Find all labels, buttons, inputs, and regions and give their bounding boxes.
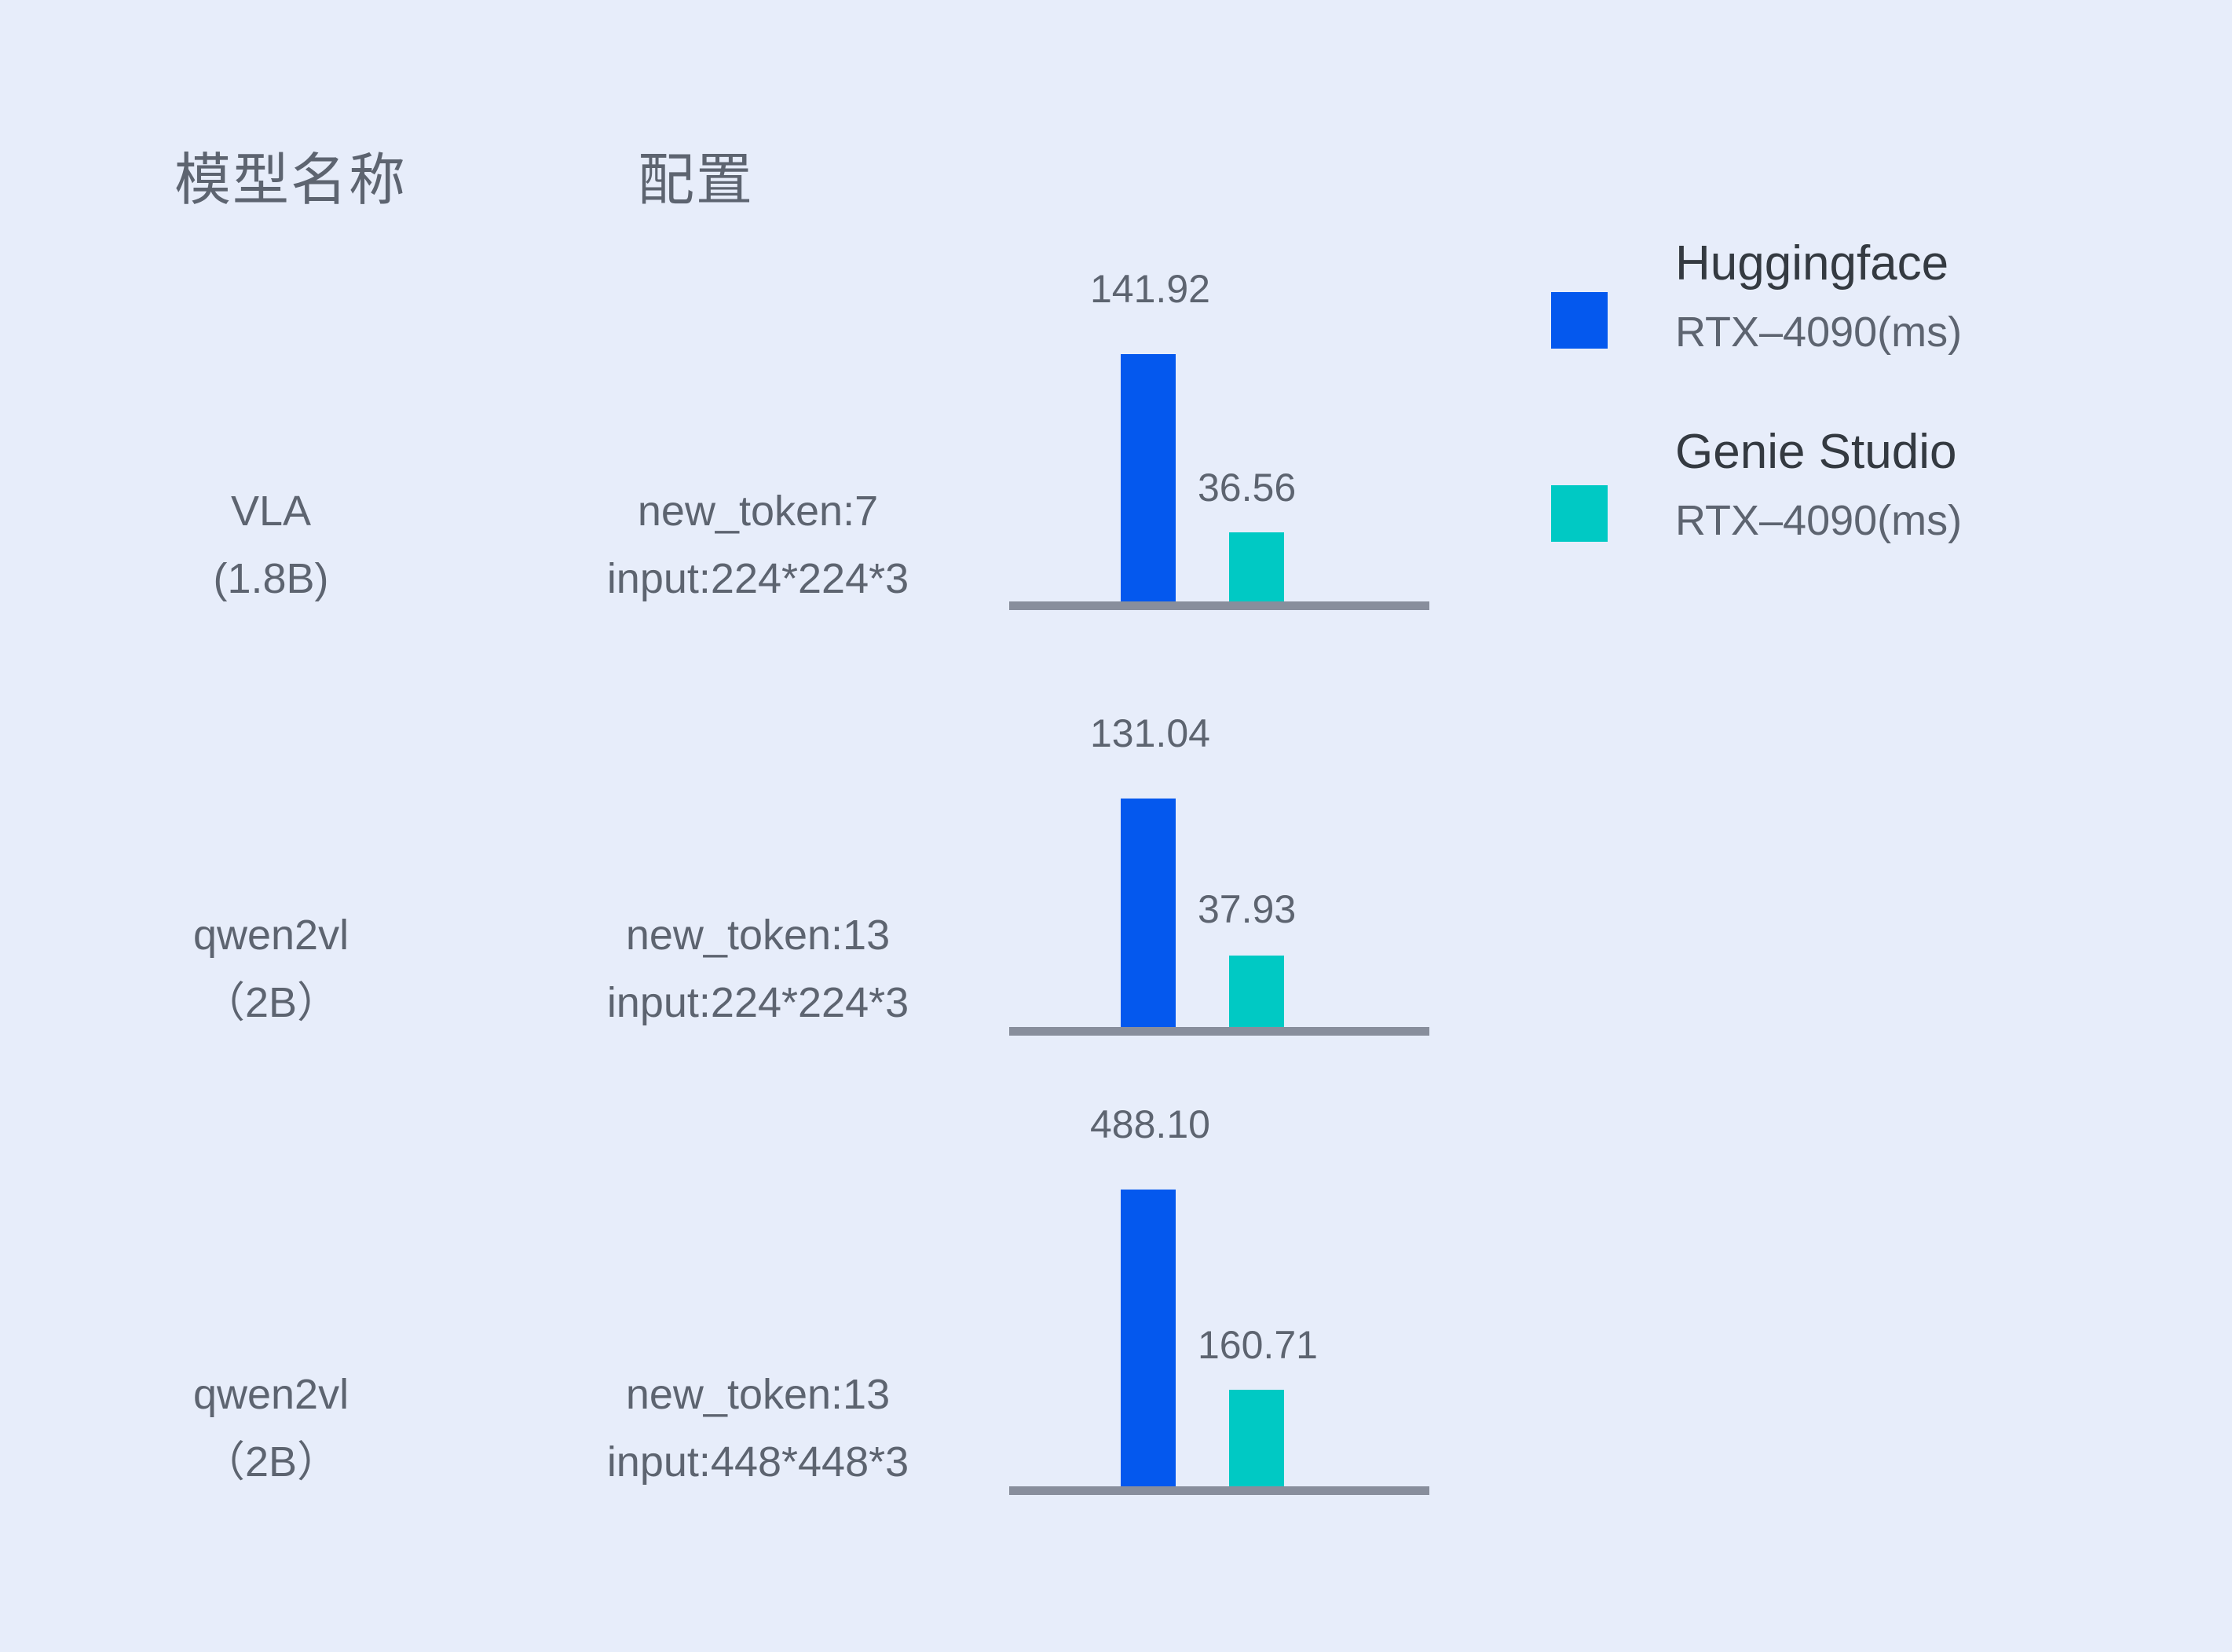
value-label-huggingface: 131.04 (1090, 711, 1210, 756)
row-config-label: new_token:13 input:224*224*3 (471, 901, 1045, 1036)
bar-group: 141.92 36.56 (1009, 440, 1433, 605)
model-size-line: (1.8B) (141, 545, 401, 612)
value-label-huggingface: 488.10 (1090, 1102, 1210, 1147)
legend-subtitle: RTX–4090(ms) (1675, 308, 1962, 356)
column-header-config: 配置 (638, 133, 754, 216)
config-input-line: input:448*448*3 (471, 1428, 1045, 1496)
value-label-genie-studio: 36.56 (1198, 465, 1296, 510)
config-input-line: input:224*224*3 (471, 969, 1045, 1036)
row-baseline (1009, 601, 1429, 610)
legend-title: Genie Studio (1675, 424, 1956, 480)
bar-huggingface (1121, 354, 1176, 605)
model-name-line: qwen2vl (141, 901, 401, 969)
legend-title: Huggingface (1675, 236, 1948, 291)
chart-legend: Huggingface RTX–4090(ms) Genie Studio RT… (1551, 236, 2148, 612)
model-size-line: （2B） (141, 1428, 401, 1496)
legend-swatch-teal-square (1551, 485, 1608, 542)
legend-item-huggingface: Huggingface RTX–4090(ms) (1551, 236, 2148, 424)
row-baseline (1009, 1486, 1429, 1495)
legend-subtitle: RTX–4090(ms) (1675, 496, 1962, 545)
config-token-line: new_token:7 (471, 477, 1045, 545)
model-name-line: VLA (141, 477, 401, 545)
bar-genie-studio (1229, 956, 1284, 1031)
config-token-line: new_token:13 (471, 1361, 1045, 1428)
legend-item-genie-studio: Genie Studio RTX–4090(ms) (1551, 424, 2148, 612)
model-name-line: qwen2vl (141, 1361, 401, 1428)
bar-huggingface (1121, 799, 1176, 1031)
legend-swatch-blue-square (1551, 292, 1608, 349)
bar-huggingface (1121, 1190, 1176, 1493)
row-baseline (1009, 1027, 1429, 1036)
config-token-line: new_token:13 (471, 901, 1045, 969)
value-label-huggingface: 141.92 (1090, 266, 1210, 312)
value-label-genie-studio: 37.93 (1198, 886, 1296, 932)
bar-genie-studio (1229, 1390, 1284, 1493)
column-header-model-name: 模型名称 (174, 133, 407, 216)
row-model-label: qwen2vl （2B） (141, 901, 401, 1036)
bar-group: 488.10 160.71 (1009, 1323, 1433, 1493)
row-model-label: qwen2vl （2B） (141, 1361, 401, 1496)
row-config-label: new_token:13 input:448*448*3 (471, 1361, 1045, 1496)
row-config-label: new_token:7 input:224*224*3 (471, 477, 1045, 612)
bar-group: 131.04 37.93 (1009, 864, 1433, 1031)
bar-genie-studio (1229, 532, 1284, 605)
model-size-line: （2B） (141, 969, 401, 1036)
value-label-genie-studio: 160.71 (1198, 1322, 1318, 1368)
config-input-line: input:224*224*3 (471, 545, 1045, 612)
row-model-label: VLA (1.8B) (141, 477, 401, 612)
chart-canvas: 模型名称 配置 VLA (1.8B) new_token:7 input:224… (0, 0, 2232, 1652)
